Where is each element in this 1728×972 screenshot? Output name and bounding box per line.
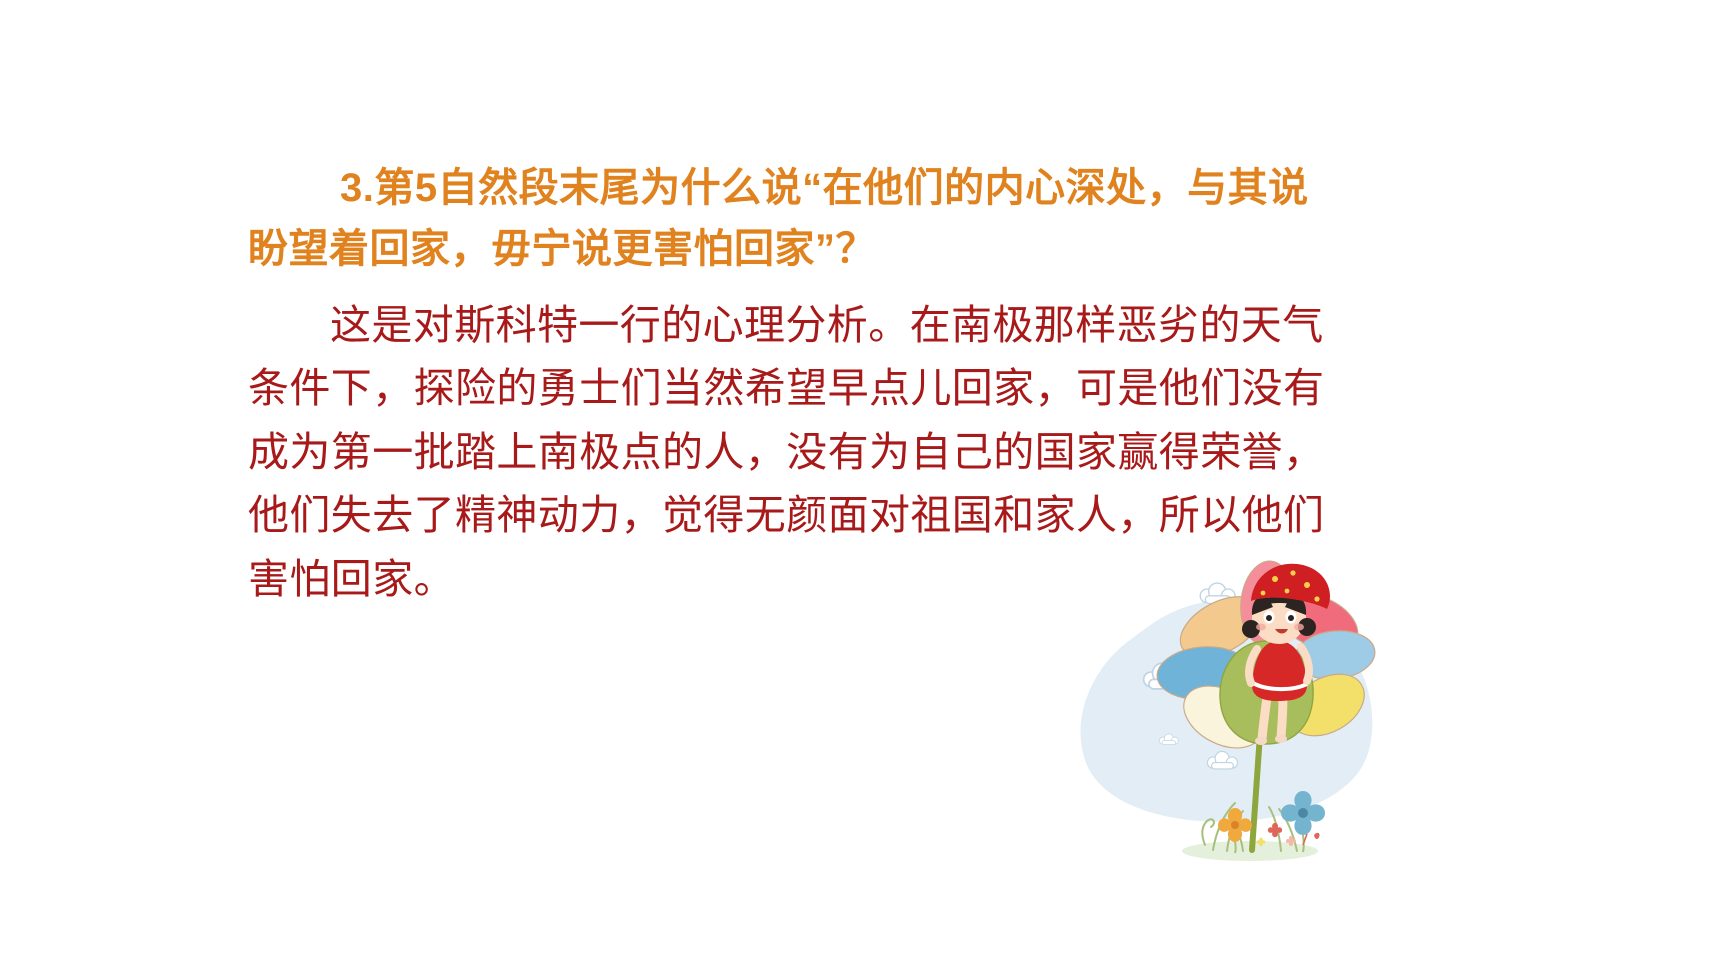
slide-text-content: 3.第5自然段末尾为什么说“在他们的内心深处，与其说盼望着回家，毋宁说更害怕回家… [248, 158, 1328, 611]
question-heading: 3.第5自然段末尾为什么说“在他们的内心深处，与其说盼望着回家，毋宁说更害怕回家… [248, 158, 1328, 280]
slide-canvas: 3.第5自然段末尾为什么说“在他们的内心深处，与其说盼望着回家，毋宁说更害怕回家… [0, 0, 1728, 972]
answer-paragraph: 这是对斯科特一行的心理分析。在南极那样恶劣的天气条件下，探险的勇士们当然希望早点… [248, 294, 1328, 612]
